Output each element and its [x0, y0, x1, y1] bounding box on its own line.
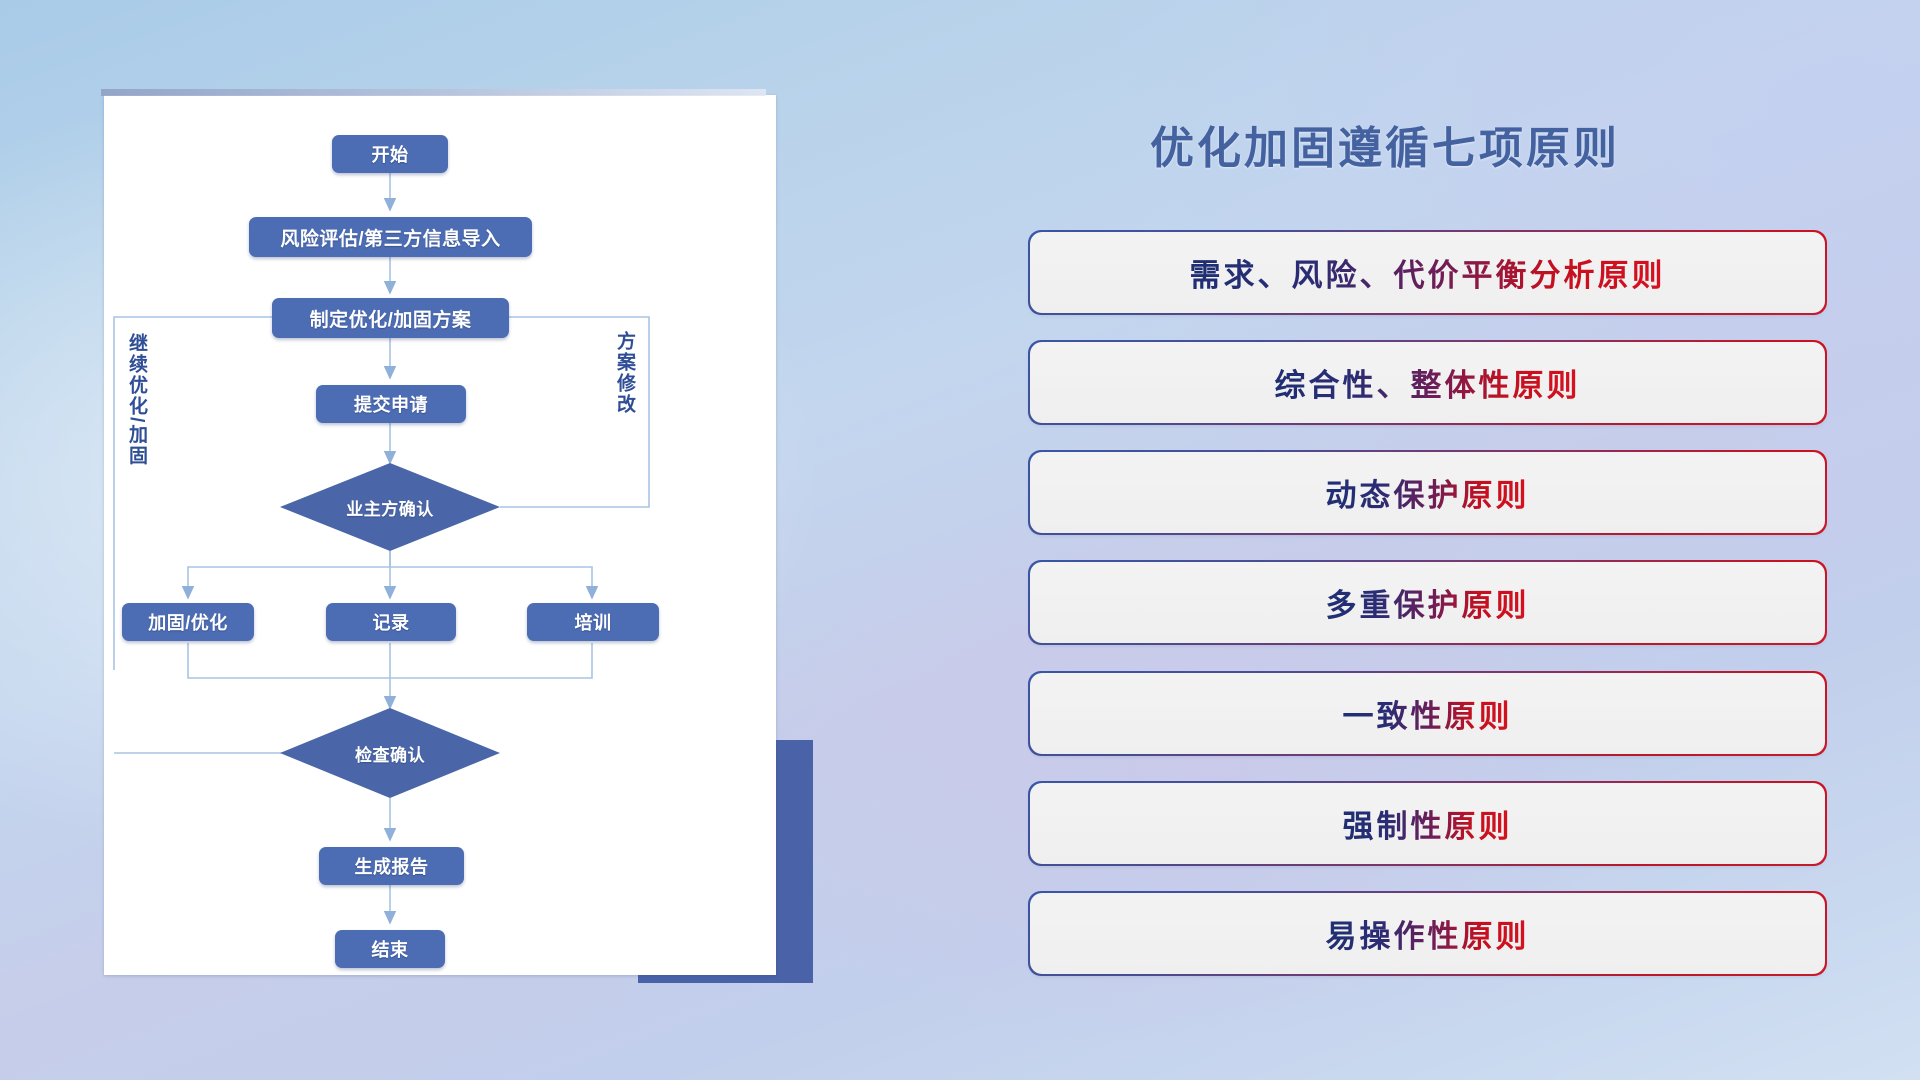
principle-card-7[interactable]: 易操作性原则	[1030, 893, 1825, 974]
flow-node-start[interactable]: 开始	[332, 135, 448, 173]
principle-card-5-label: 一致性原则	[1343, 691, 1513, 736]
flow-node-report[interactable]: 生成报告	[319, 847, 464, 885]
flow-node-training-label: 培训	[575, 609, 612, 635]
flowchart-card: 开始 风险评估/第三方信息导入 制定优化/加固方案 提交申请 业主方确认 加固/…	[104, 95, 776, 975]
principle-card-2-label: 综合性、整体性原则	[1275, 360, 1581, 405]
flow-node-risk[interactable]: 风险评估/第三方信息导入	[249, 217, 532, 257]
principle-card-4-label: 多重保护原则	[1326, 580, 1530, 625]
flow-node-owner-confirm[interactable]: 业主方确认	[280, 487, 500, 527]
flow-node-end-label: 结束	[372, 936, 409, 962]
flow-node-record-label: 记录	[373, 609, 410, 635]
principle-card-2[interactable]: 综合性、整体性原则	[1030, 342, 1825, 423]
flowchart-panel: 开始 风险评估/第三方信息导入 制定优化/加固方案 提交申请 业主方确认 加固/…	[0, 0, 880, 1080]
flow-label-plan-revision: 方案修改	[614, 331, 634, 431]
flow-node-owner-confirm-label: 业主方确认	[346, 495, 434, 520]
principle-card-4[interactable]: 多重保护原则	[1030, 562, 1825, 643]
flow-node-record[interactable]: 记录	[326, 603, 456, 641]
flow-node-start-label: 开始	[372, 141, 409, 167]
flow-node-check[interactable]: 检查确认	[280, 733, 500, 773]
flow-node-reinforce-label: 加固/优化	[148, 609, 228, 635]
flow-node-end[interactable]: 结束	[335, 930, 445, 968]
page-title: 优化加固遵循七项原则	[1150, 112, 1620, 176]
flow-node-plan-label: 制定优化/加固方案	[310, 305, 472, 332]
principle-card-6-label: 强制性原则	[1343, 801, 1513, 846]
flow-node-check-label: 检查确认	[355, 741, 425, 766]
principle-card-6[interactable]: 强制性原则	[1030, 783, 1825, 864]
flowchart-canvas: 开始 风险评估/第三方信息导入 制定优化/加固方案 提交申请 业主方确认 加固/…	[104, 95, 776, 975]
principle-card-1-label: 需求、风险、代价平衡分析原则	[1190, 250, 1666, 295]
principle-card-5[interactable]: 一致性原则	[1030, 673, 1825, 754]
flow-label-continue-optimize: 继续优化/加固	[126, 333, 146, 483]
flow-node-plan[interactable]: 制定优化/加固方案	[272, 298, 509, 338]
principle-card-3-label: 动态保护原则	[1326, 470, 1530, 515]
principle-card-3[interactable]: 动态保护原则	[1030, 452, 1825, 533]
flow-node-reinforce[interactable]: 加固/优化	[122, 603, 254, 641]
flow-node-submit-label: 提交申请	[354, 391, 428, 417]
flow-node-risk-label: 风险评估/第三方信息导入	[280, 224, 500, 251]
principles-panel: 优化加固遵循七项原则 需求、风险、代价平衡分析原则 综合性、整体性原则 动态保护…	[1000, 0, 1920, 1080]
principle-card-1[interactable]: 需求、风险、代价平衡分析原则	[1030, 232, 1825, 313]
flow-node-submit[interactable]: 提交申请	[316, 385, 466, 423]
flow-node-report-label: 生成报告	[355, 853, 429, 879]
principle-card-7-label: 易操作性原则	[1326, 911, 1530, 956]
flow-node-training[interactable]: 培训	[527, 603, 659, 641]
